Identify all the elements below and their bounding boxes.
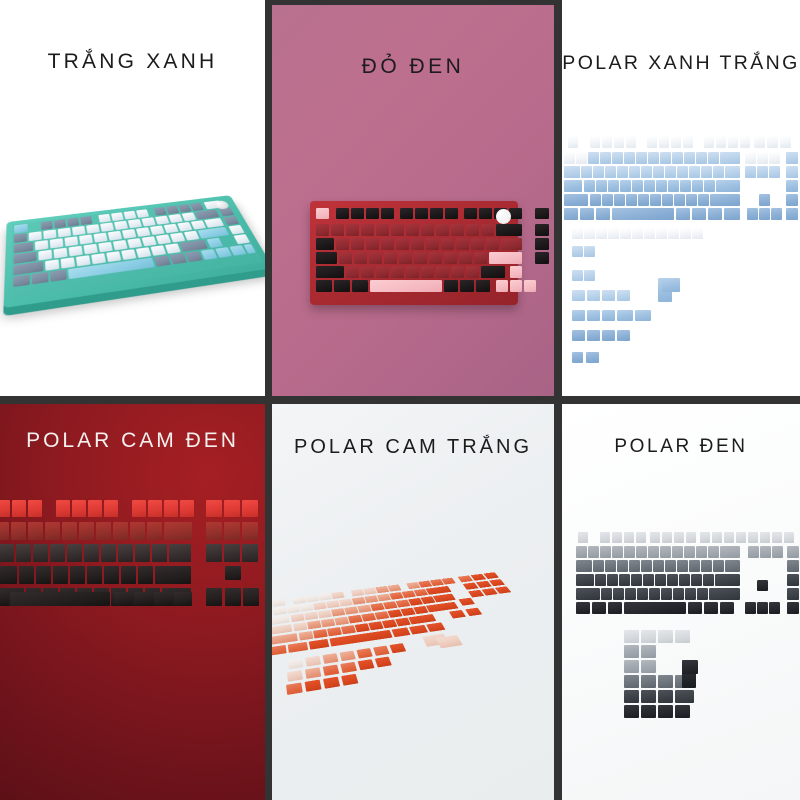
- variant-panel-polar-den[interactable]: POLAR ĐEN: [562, 404, 800, 800]
- variant-title-polar-cam-trang: POLAR CAM TRẮNG: [272, 436, 554, 459]
- variant-panel-trang-xanh[interactable]: TRẮNG XANH: [0, 0, 265, 396]
- variant-title-polar-cam-den: POLAR CAM ĐEN: [0, 429, 265, 453]
- keyboard-photo-trang-xanh: [3, 195, 265, 324]
- keycap-set-photo-polar-cam-trang: [272, 571, 554, 714]
- variant-title-do-den: ĐỎ ĐEN: [272, 55, 554, 79]
- variant-panel-polar-cam-den[interactable]: POLAR CAM ĐEN: [0, 404, 265, 800]
- variant-panel-polar-cam-trang[interactable]: POLAR CAM TRẮNG: [272, 404, 554, 800]
- keyboard-photo-do-den: [310, 201, 518, 305]
- variant-panel-do-den[interactable]: ĐỎ ĐEN: [272, 5, 554, 396]
- keycap-set-photo-polar-xanh-trang: [562, 0, 800, 396]
- variant-panel-polar-xanh-trang[interactable]: POLAR XANH TRẮNG: [562, 0, 800, 396]
- variant-title-polar-den: POLAR ĐEN: [562, 436, 800, 458]
- product-variant-grid: TRẮNG XANH: [0, 0, 800, 800]
- rotary-knob: [496, 209, 511, 224]
- variant-title-trang-xanh: TRẮNG XANH: [0, 50, 265, 74]
